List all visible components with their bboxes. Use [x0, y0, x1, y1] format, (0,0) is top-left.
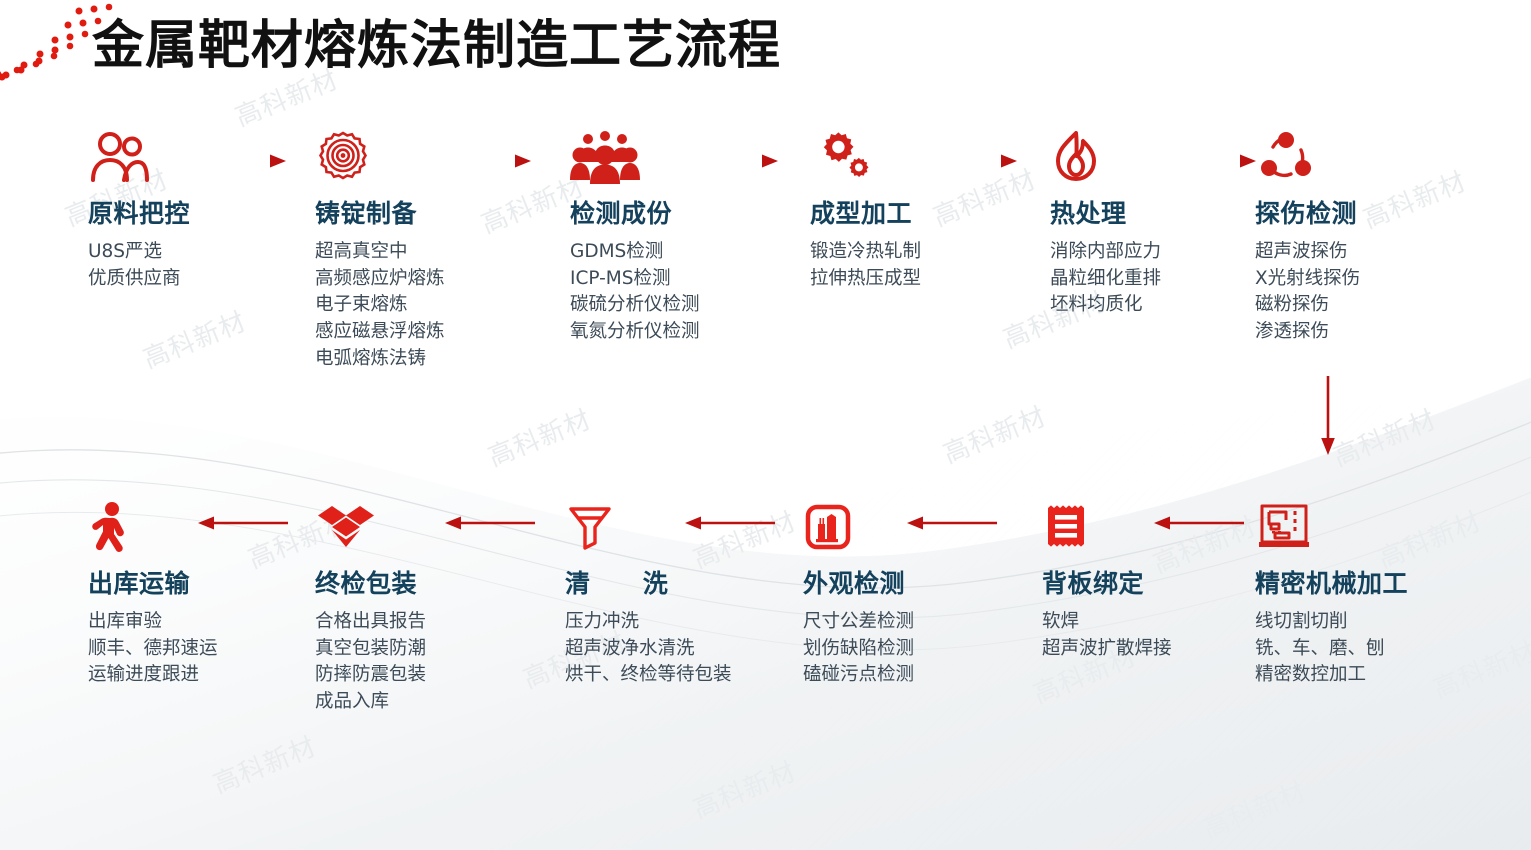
step-item: 高频感应炉熔炼	[315, 266, 530, 293]
watermark: 高科新材	[482, 399, 596, 474]
step-item: 渗透探伤	[1255, 319, 1470, 346]
inspection-factory-icon	[803, 498, 1018, 556]
flame-icon	[1050, 128, 1265, 186]
funnel-icon	[565, 498, 780, 556]
page-title: 金属靶材熔炼法制造工艺流程	[92, 3, 781, 78]
arrow-step6-to-step7	[1318, 376, 1338, 458]
step-item: 锻造冷热轧制	[810, 239, 1025, 266]
step-card-3[interactable]: 检测成份 GDMS检测 ICP-MS检测 碳硫分析仪检测 氧氮分析仪检测	[570, 128, 785, 346]
step-item: 烘干、终检等待包装	[565, 662, 733, 689]
step-item: 压力冲洗	[565, 609, 780, 636]
step-title: 原料把控	[88, 194, 303, 230]
two-gears-icon	[810, 128, 1025, 186]
step-item: 防摔防震包装	[315, 662, 530, 689]
step-item: 精密数控加工	[1255, 662, 1470, 689]
step-card-7[interactable]: 精密机械加工 线切割切削 铣、车、磨、刨 精密数控加工	[1255, 498, 1470, 689]
step-item: 软焊	[1042, 609, 1257, 636]
step-card-11[interactable]: 终检包装 合格出具报告 真空包装防潮 防摔防震包装 成品入库	[315, 498, 530, 716]
step-item: ICP-MS检测	[570, 266, 785, 293]
step-item: 碳硫分析仪检测	[570, 292, 785, 319]
people-group-icon	[570, 128, 785, 186]
step-item: 晶粒细化重排	[1050, 266, 1265, 293]
bonded-plate-icon	[1042, 498, 1257, 556]
step-item: 拉伸热压成型	[810, 266, 1025, 293]
step-card-10[interactable]: 清 洗 压力冲洗 超声波净水清洗 烘干、终检等待包装	[565, 498, 780, 689]
watermark: 高科新材	[207, 726, 321, 801]
step-title: 热处理	[1050, 194, 1265, 230]
step-title: 成型加工	[810, 194, 1025, 230]
step-title: 探伤检测	[1255, 194, 1470, 230]
step-title: 背板绑定	[1042, 564, 1257, 600]
step-item: 运输进度跟进	[88, 662, 303, 689]
step-card-6[interactable]: 探伤检测 超声波探伤 X光射线探伤 磁粉探伤 渗透探伤	[1255, 128, 1470, 346]
walking-person-icon	[88, 498, 303, 556]
step-item: 合格出具报告	[315, 609, 530, 636]
step-title: 清 洗	[565, 564, 780, 600]
step-item: 感应磁悬浮熔炼	[315, 319, 530, 346]
step-card-12[interactable]: 出库运输 出库审验 顺丰、德邦速运 运输进度跟进	[88, 498, 303, 689]
step-title: 外观检测	[803, 564, 1018, 600]
open-box-icon	[315, 498, 530, 556]
step-item: 超声波扩散焊接	[1042, 636, 1257, 663]
step-item: 磕碰污点检测	[803, 662, 1018, 689]
step-item: 顺丰、德邦速运	[88, 636, 303, 663]
step-item: 划伤缺陷检测	[803, 636, 1018, 663]
step-card-9[interactable]: 外观检测 尺寸公差检测 划伤缺陷检测 磕碰污点检测	[803, 498, 1018, 689]
step-title: 检测成份	[570, 194, 785, 230]
atom-triangle-icon	[1255, 128, 1470, 186]
watermark: 高科新材	[687, 751, 801, 826]
step-card-2[interactable]: 铸锭制备 超高真空中 高频感应炉熔炼 电子束熔炼 感应磁悬浮熔炼 电弧熔炼法铸	[315, 128, 530, 372]
step-item: 成品入库	[315, 689, 530, 716]
step-title: 精密机械加工	[1255, 564, 1470, 600]
step-item: GDMS检测	[570, 239, 785, 266]
step-title: 出库运输	[88, 564, 303, 600]
step-item: U8S严选	[88, 239, 303, 266]
step-item: 消除内部应力	[1050, 239, 1265, 266]
watermark: 高科新材	[937, 396, 1051, 471]
step-item: 优质供应商	[88, 266, 303, 293]
step-card-5[interactable]: 热处理 消除内部应力 晶粒细化重排 坯料均质化	[1050, 128, 1265, 319]
step-card-4[interactable]: 成型加工 锻造冷热轧制 拉伸热压成型	[810, 128, 1025, 292]
step-item: 真空包装防潮	[315, 636, 530, 663]
step-item: 出库审验	[88, 609, 303, 636]
step-card-8[interactable]: 背板绑定 软焊 超声波扩散焊接	[1042, 498, 1257, 662]
step-item: 氧氮分析仪检测	[570, 319, 785, 346]
step-item: X光射线探伤	[1255, 266, 1470, 293]
watermark: 高科新材	[137, 301, 251, 376]
step-item: 坯料均质化	[1050, 292, 1265, 319]
watermark: 高科新材	[1197, 771, 1311, 846]
step-title: 铸锭制备	[315, 194, 530, 230]
process-flow-infographic: 高科新材 高科新材 高科新材 高科新材 高科新材 高科新材 高科新材 高科新材 …	[0, 0, 1531, 850]
step-item: 超声波探伤	[1255, 239, 1470, 266]
cnc-machine-icon	[1255, 498, 1470, 556]
two-people-icon	[88, 128, 303, 186]
step-item: 磁粉探伤	[1255, 292, 1470, 319]
step-item: 铣、车、磨、刨	[1255, 636, 1470, 663]
step-card-1[interactable]: 原料把控 U8S严选 优质供应商	[88, 128, 303, 292]
gear-target-icon	[315, 128, 530, 186]
step-item: 线切割切削	[1255, 609, 1470, 636]
step-item: 尺寸公差检测	[803, 609, 1018, 636]
step-item: 超高真空中	[315, 239, 530, 266]
step-item: 超声波净水清洗	[565, 636, 780, 663]
step-item: 电弧熔炼法铸	[315, 346, 530, 373]
watermark: 高科新材	[1327, 399, 1441, 474]
step-item: 电子束熔炼	[315, 292, 530, 319]
step-title: 终检包装	[315, 564, 530, 600]
